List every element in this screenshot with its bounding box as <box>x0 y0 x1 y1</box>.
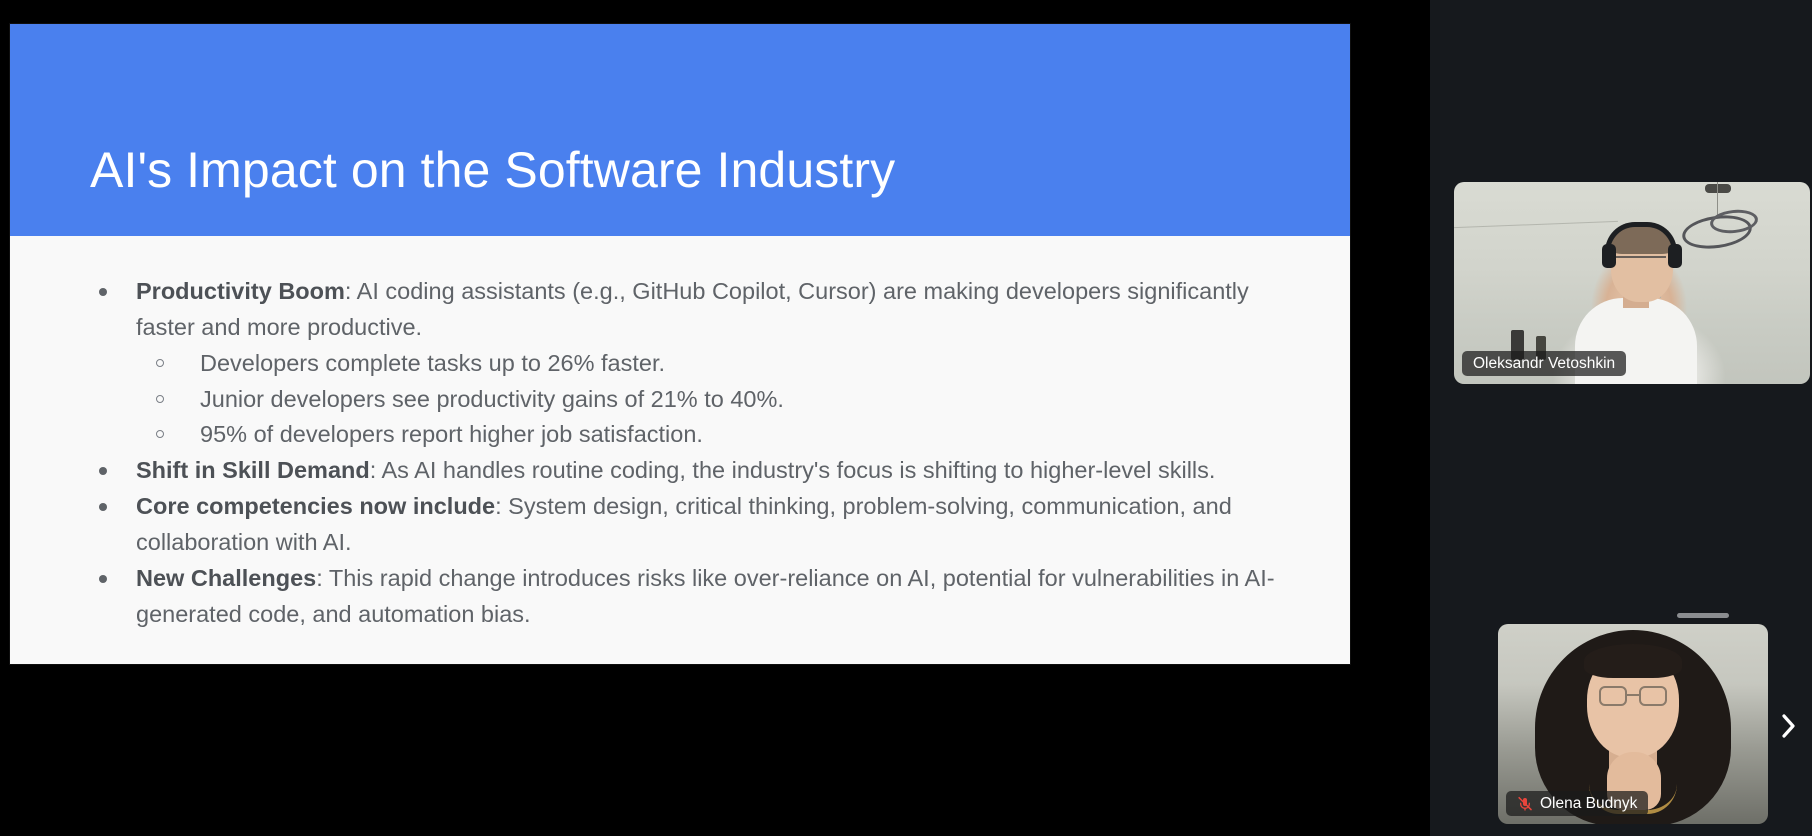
slide-sub-bullet: Developers complete tasks up to 26% fast… <box>82 346 1290 382</box>
ceiling-lamp-cord <box>1717 182 1718 216</box>
slide-sub-bullet-list: Developers complete tasks up to 26% fast… <box>82 346 1290 453</box>
sub-bullet-text: 95% of developers report higher job sati… <box>200 421 703 447</box>
bullet-ring-icon <box>156 430 164 438</box>
microphone-muted-icon <box>1517 796 1533 812</box>
slide-sub-bullet: Junior developers see productivity gains… <box>82 382 1290 418</box>
person-glasses-bridge <box>1627 694 1639 696</box>
bullet-lead: Shift in Skill Demand <box>136 457 370 483</box>
bullet-lead: New Challenges <box>136 565 316 591</box>
slide-title: AI's Impact on the Software Industry <box>90 142 895 198</box>
slide-bullet: Productivity Boom: AI coding assistants … <box>82 274 1290 345</box>
slide-bullet-list: Productivity Boom: AI coding assistants … <box>82 274 1290 632</box>
bullet-dot-icon <box>99 503 107 511</box>
participant-name: Oleksandr Vetoshkin <box>1473 351 1615 376</box>
participant-tile-oleksandr-vetoshkin[interactable]: Oleksandr Vetoshkin <box>1454 182 1810 384</box>
expand-rail-button[interactable] <box>1772 705 1806 747</box>
slide-bullet: Core competencies now include: System de… <box>82 489 1290 560</box>
headphones-earcup-left <box>1602 244 1616 268</box>
chevron-right-icon <box>1778 711 1800 741</box>
meeting-stage: AI's Impact on the Software Industry Pro… <box>0 0 1812 836</box>
person-glasses-left-lens <box>1599 686 1627 706</box>
participant-tile-olena-budnyk[interactable]: Olena Budnyk <box>1498 624 1768 824</box>
headphones-earcup-right <box>1668 244 1682 268</box>
bullet-ring-icon <box>156 395 164 403</box>
bullet-dot-icon <box>99 288 107 296</box>
person-glasses <box>1616 256 1666 269</box>
slide-sub-bullet: 95% of developers report higher job sati… <box>82 417 1290 453</box>
bullet-dot-icon <box>99 467 107 475</box>
bullet-lead: Productivity Boom <box>136 278 345 304</box>
slide-bullet: Shift in Skill Demand: As AI handles rou… <box>82 453 1290 489</box>
participant-nameplate: Olena Budnyk <box>1506 791 1648 816</box>
presentation-slide[interactable]: AI's Impact on the Software Industry Pro… <box>10 24 1350 664</box>
slide-bullet: New Challenges: This rapid change introd… <box>82 561 1290 632</box>
participant-name: Olena Budnyk <box>1540 791 1637 816</box>
person-glasses-right-lens <box>1639 686 1667 706</box>
bullet-dot-icon <box>99 575 107 583</box>
bullet-lead: Core competencies now include <box>136 493 495 519</box>
screen-share-viewport[interactable]: AI's Impact on the Software Industry Pro… <box>0 0 1430 836</box>
rail-horizontal-resize-handle[interactable] <box>1677 613 1729 618</box>
slide-body: Productivity Boom: AI coding assistants … <box>10 236 1350 664</box>
bullet-rest: : As AI handles routine coding, the indu… <box>370 457 1216 483</box>
sub-bullet-text: Developers complete tasks up to 26% fast… <box>200 350 665 376</box>
participant-nameplate: Oleksandr Vetoshkin <box>1462 351 1626 376</box>
bullet-ring-icon <box>156 359 164 367</box>
participant-rail: Oleksandr Vetoshkin <box>1430 0 1812 836</box>
person-fringe <box>1584 644 1682 678</box>
room-wall-seam <box>1454 221 1618 228</box>
sub-bullet-text: Junior developers see productivity gains… <box>200 386 784 412</box>
slide-title-band <box>10 24 1350 236</box>
